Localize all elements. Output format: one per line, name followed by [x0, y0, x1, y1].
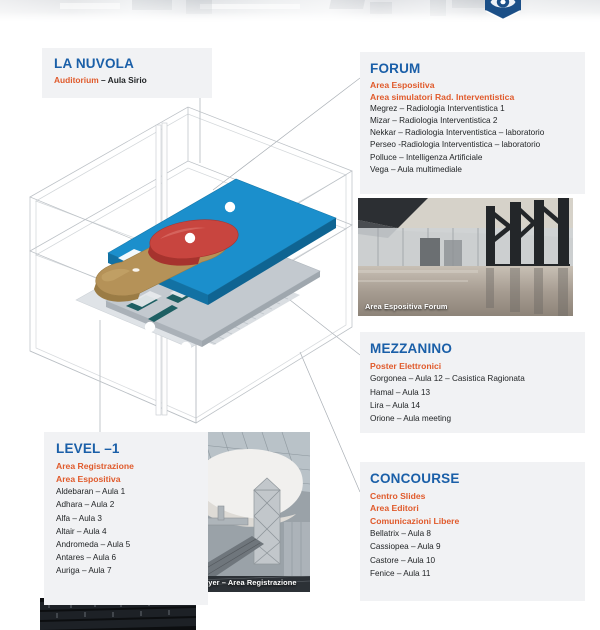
callout-dot-concourse [145, 322, 155, 332]
mezzanino-subhead: Poster Elettronici [370, 360, 585, 372]
level-1-room: Andromeda – Aula 5 [56, 538, 208, 551]
photo-area-espositiva-forum: Area Espositiva Forum [358, 198, 573, 316]
mezzanino-room: Orione – Aula meeting [370, 412, 585, 425]
concourse-room: Fenice – Aula 11 [370, 567, 585, 580]
level-1-room: Auriga – Aula 7 [56, 564, 208, 577]
forum-room: Perseo -Radiologia Interventistica – lab… [370, 139, 585, 151]
forum-subhead: Area simulatori Rad. Interventistica [370, 92, 585, 104]
callout-dot-level-1 [71, 305, 81, 315]
exploded-isometric-building-diagram [18, 105, 368, 450]
level-1-subhead: Area Espositiva [56, 473, 208, 486]
concourse-subhead: Comunicazioni Libere [370, 515, 585, 527]
panel-title-level-minus-1: LEVEL –1 [56, 441, 208, 456]
forum-room: Megrez – Radiologia Interventistica 1 [370, 103, 585, 115]
panel-la-nuvola: LA NUVOLA Auditorium – Aula Sirio [42, 48, 212, 98]
panel-concourse: CONCOURSE Centro Slides Area Editori Com… [360, 462, 585, 601]
level-1-room: Aldebaran – Aula 1 [56, 485, 208, 498]
forum-room: Mizar – Radiologia Interventistica 2 [370, 115, 585, 127]
level-1-room: Alfa – Aula 3 [56, 512, 208, 525]
mezzanino-room: Gorgonea – Aula 12 – Casistica Ragionata [370, 372, 585, 385]
forum-room: Vega – Aula multimediale [370, 164, 585, 176]
concourse-subhead: Centro Slides [370, 490, 585, 502]
level-1-subhead: Area Registrazione [56, 460, 208, 473]
panel-title-forum: FORUM [370, 61, 585, 76]
level-1-room: Adhara – Aula 2 [56, 498, 208, 511]
panel-mezzanino: MEZZANINO Poster Elettronici Gorgonea – … [360, 332, 585, 433]
page-root: Area Espositiva Forum [0, 0, 600, 630]
concourse-room: Bellatrix – Aula 8 [370, 527, 585, 540]
panel-level-minus-1: LEVEL –1 Area Registrazione Area Esposit… [44, 432, 208, 605]
panel-forum: FORUM Area Espositiva Area simulatori Ra… [360, 52, 585, 194]
concourse-room: Cassiopea – Aula 9 [370, 540, 585, 553]
forum-subhead: Area Espositiva [370, 80, 585, 92]
concourse-room: Castore – Aula 10 [370, 554, 585, 567]
forum-room: Nekkar – Radiologia Interventistica – la… [370, 127, 585, 139]
photo-caption: Foyer – Area Registrazione [199, 578, 297, 587]
la-nuvola-room-label: – Aula Sirio [101, 75, 147, 85]
panel-title-la-nuvola: LA NUVOLA [54, 56, 212, 71]
callout-dot-mezzanino [181, 342, 191, 352]
la-nuvola-area-label: Auditorium [54, 75, 99, 85]
mezzanino-room: Hamal – Aula 13 [370, 386, 585, 399]
photo-foyer-area-registrazione: Foyer – Area Registrazione [192, 432, 310, 592]
panel-title-mezzanino: MEZZANINO [370, 341, 585, 356]
level-1-room: Altair – Aula 4 [56, 525, 208, 538]
forum-room: Polluce – Intelligenza Artificiale [370, 152, 585, 164]
level-1-room: Antares – Aula 6 [56, 551, 208, 564]
la-nuvola-room-line: Auditorium – Aula Sirio [54, 75, 212, 85]
panel-title-concourse: CONCOURSE [370, 471, 585, 486]
concourse-subhead: Area Editori [370, 502, 585, 514]
mezzanino-room: Lira – Aula 14 [370, 399, 585, 412]
photo-caption: Area Espositiva Forum [365, 302, 448, 311]
